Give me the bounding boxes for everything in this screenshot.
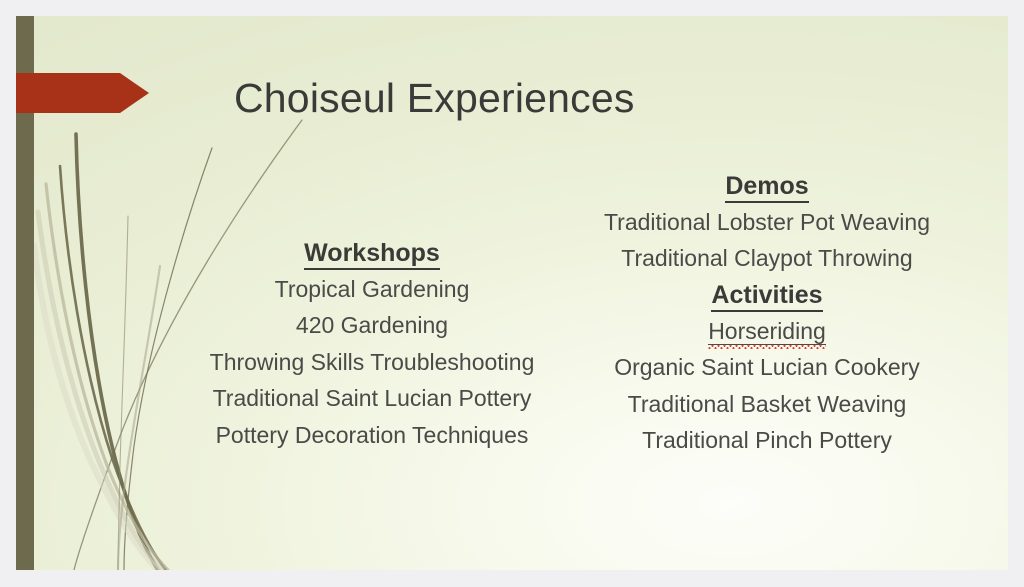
left-text-column: Workshops Tropical Gardening 420 Gardeni… xyxy=(191,235,553,453)
spellcheck-squiggle-icon xyxy=(708,345,826,349)
list-item-label: Traditional Pinch Pottery xyxy=(642,427,892,453)
list-item: Traditional Basket Weaving xyxy=(586,386,948,422)
list-item-misspelled: Horseriding xyxy=(586,313,948,349)
list-item-label: Organic Saint Lucian Cookery xyxy=(614,354,920,380)
list-item-label: Pottery Decoration Techniques xyxy=(216,422,529,448)
list-item: Traditional Lobster Pot Weaving xyxy=(586,204,948,240)
list-item: Traditional Saint Lucian Pottery xyxy=(191,380,553,416)
list-item: Pottery Decoration Techniques xyxy=(191,417,553,453)
right-text-column: Demos Traditional Lobster Pot Weaving Tr… xyxy=(586,168,948,458)
group-demos: Demos Traditional Lobster Pot Weaving Tr… xyxy=(586,168,948,277)
red-arrow-banner xyxy=(16,73,149,113)
list-item-label: Tropical Gardening xyxy=(275,276,470,302)
list-item-label: 420 Gardening xyxy=(296,312,448,338)
page-title: Choiseul Experiences xyxy=(234,75,934,122)
list-item-label: Throwing Skills Troubleshooting xyxy=(210,349,535,375)
list-item: Throwing Skills Troubleshooting xyxy=(191,344,553,380)
slide-viewer: Choiseul Experiences Workshops Tropical … xyxy=(0,0,1024,587)
list-item-label: Traditional Saint Lucian Pottery xyxy=(213,385,532,411)
group-activities: Activities Horseriding Organic Saint Luc… xyxy=(586,277,948,459)
list-item: Traditional Claypot Throwing xyxy=(586,240,948,276)
group-workshops: Workshops Tropical Gardening 420 Gardeni… xyxy=(191,235,553,453)
presentation-slide: Choiseul Experiences Workshops Tropical … xyxy=(16,16,1008,570)
list-item-label: Traditional Claypot Throwing xyxy=(621,245,912,271)
list-item: Tropical Gardening xyxy=(191,271,553,307)
list-item: 420 Gardening xyxy=(191,307,553,343)
group-heading-demos-label: Demos xyxy=(725,172,808,203)
group-heading-activities: Activities xyxy=(586,277,948,313)
group-heading-demos: Demos xyxy=(586,168,948,204)
list-item: Organic Saint Lucian Cookery xyxy=(586,349,948,385)
list-item: Traditional Pinch Pottery xyxy=(586,422,948,458)
group-heading-workshops-label: Workshops xyxy=(304,239,440,270)
list-item-label: Traditional Basket Weaving xyxy=(628,391,907,417)
list-item-label: Horseriding xyxy=(708,318,826,345)
list-item-label: Traditional Lobster Pot Weaving xyxy=(604,209,930,235)
group-heading-activities-label: Activities xyxy=(711,281,822,312)
group-heading-workshops: Workshops xyxy=(191,235,553,271)
